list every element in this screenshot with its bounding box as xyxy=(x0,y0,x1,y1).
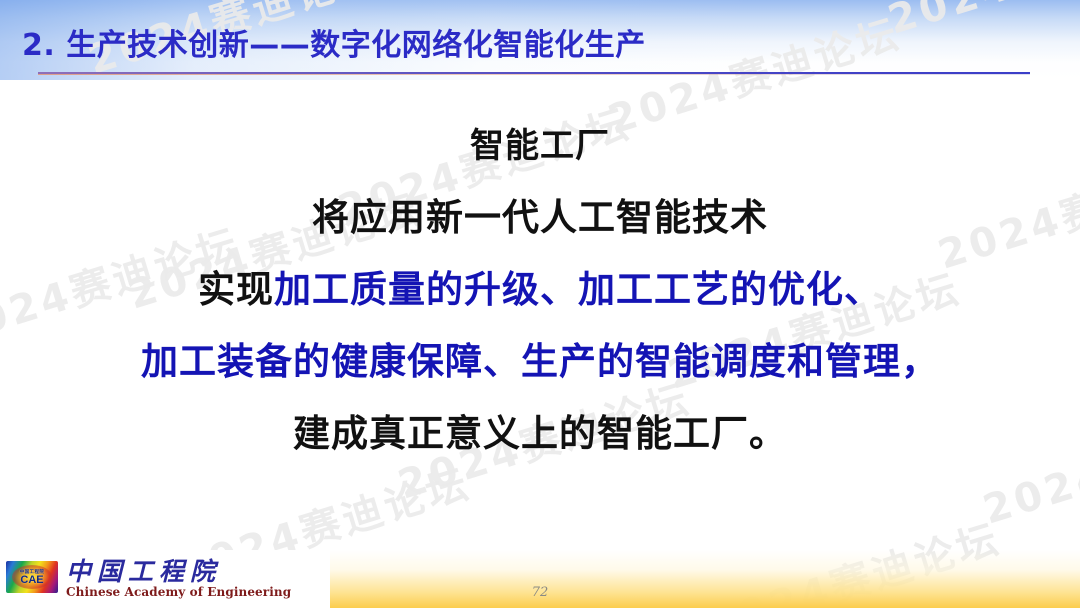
slide-body: 智能工厂 将应用新一代人工智能技术 实现加工质量的升级、加工工艺的优化、 加工装… xyxy=(0,110,1080,470)
body-line-3-prefix: 实现 xyxy=(198,268,274,311)
body-line-3-highlight: 加工质量的升级、加工工艺的优化、 xyxy=(274,268,882,311)
title-underline-orange xyxy=(38,74,1030,75)
body-line-1: 智能工厂 xyxy=(0,110,1080,182)
slide-title-container: 2. 生产技术创新——数字化网络化智能化生产 xyxy=(0,26,1080,66)
page-number: 72 xyxy=(0,585,1080,600)
body-line-5: 建成真正意义上的智能工厂。 xyxy=(0,398,1080,470)
logo-chinese-name: 中国工程院 xyxy=(66,558,291,585)
body-line-2: 将应用新一代人工智能技术 xyxy=(0,182,1080,254)
slide-canvas: 2024赛迪论坛 2024赛迪论坛 2024赛迪论坛 2024赛迪论坛 2024… xyxy=(0,0,1080,608)
cae-emblem-label: 中国工程院 CAE xyxy=(20,569,45,585)
page-title: 2. 生产技术创新——数字化网络化智能化生产 xyxy=(0,26,1080,66)
body-line-4: 加工装备的健康保障、生产的智能调度和管理， xyxy=(0,326,1080,398)
body-line-3: 实现加工质量的升级、加工工艺的优化、 xyxy=(0,254,1080,326)
